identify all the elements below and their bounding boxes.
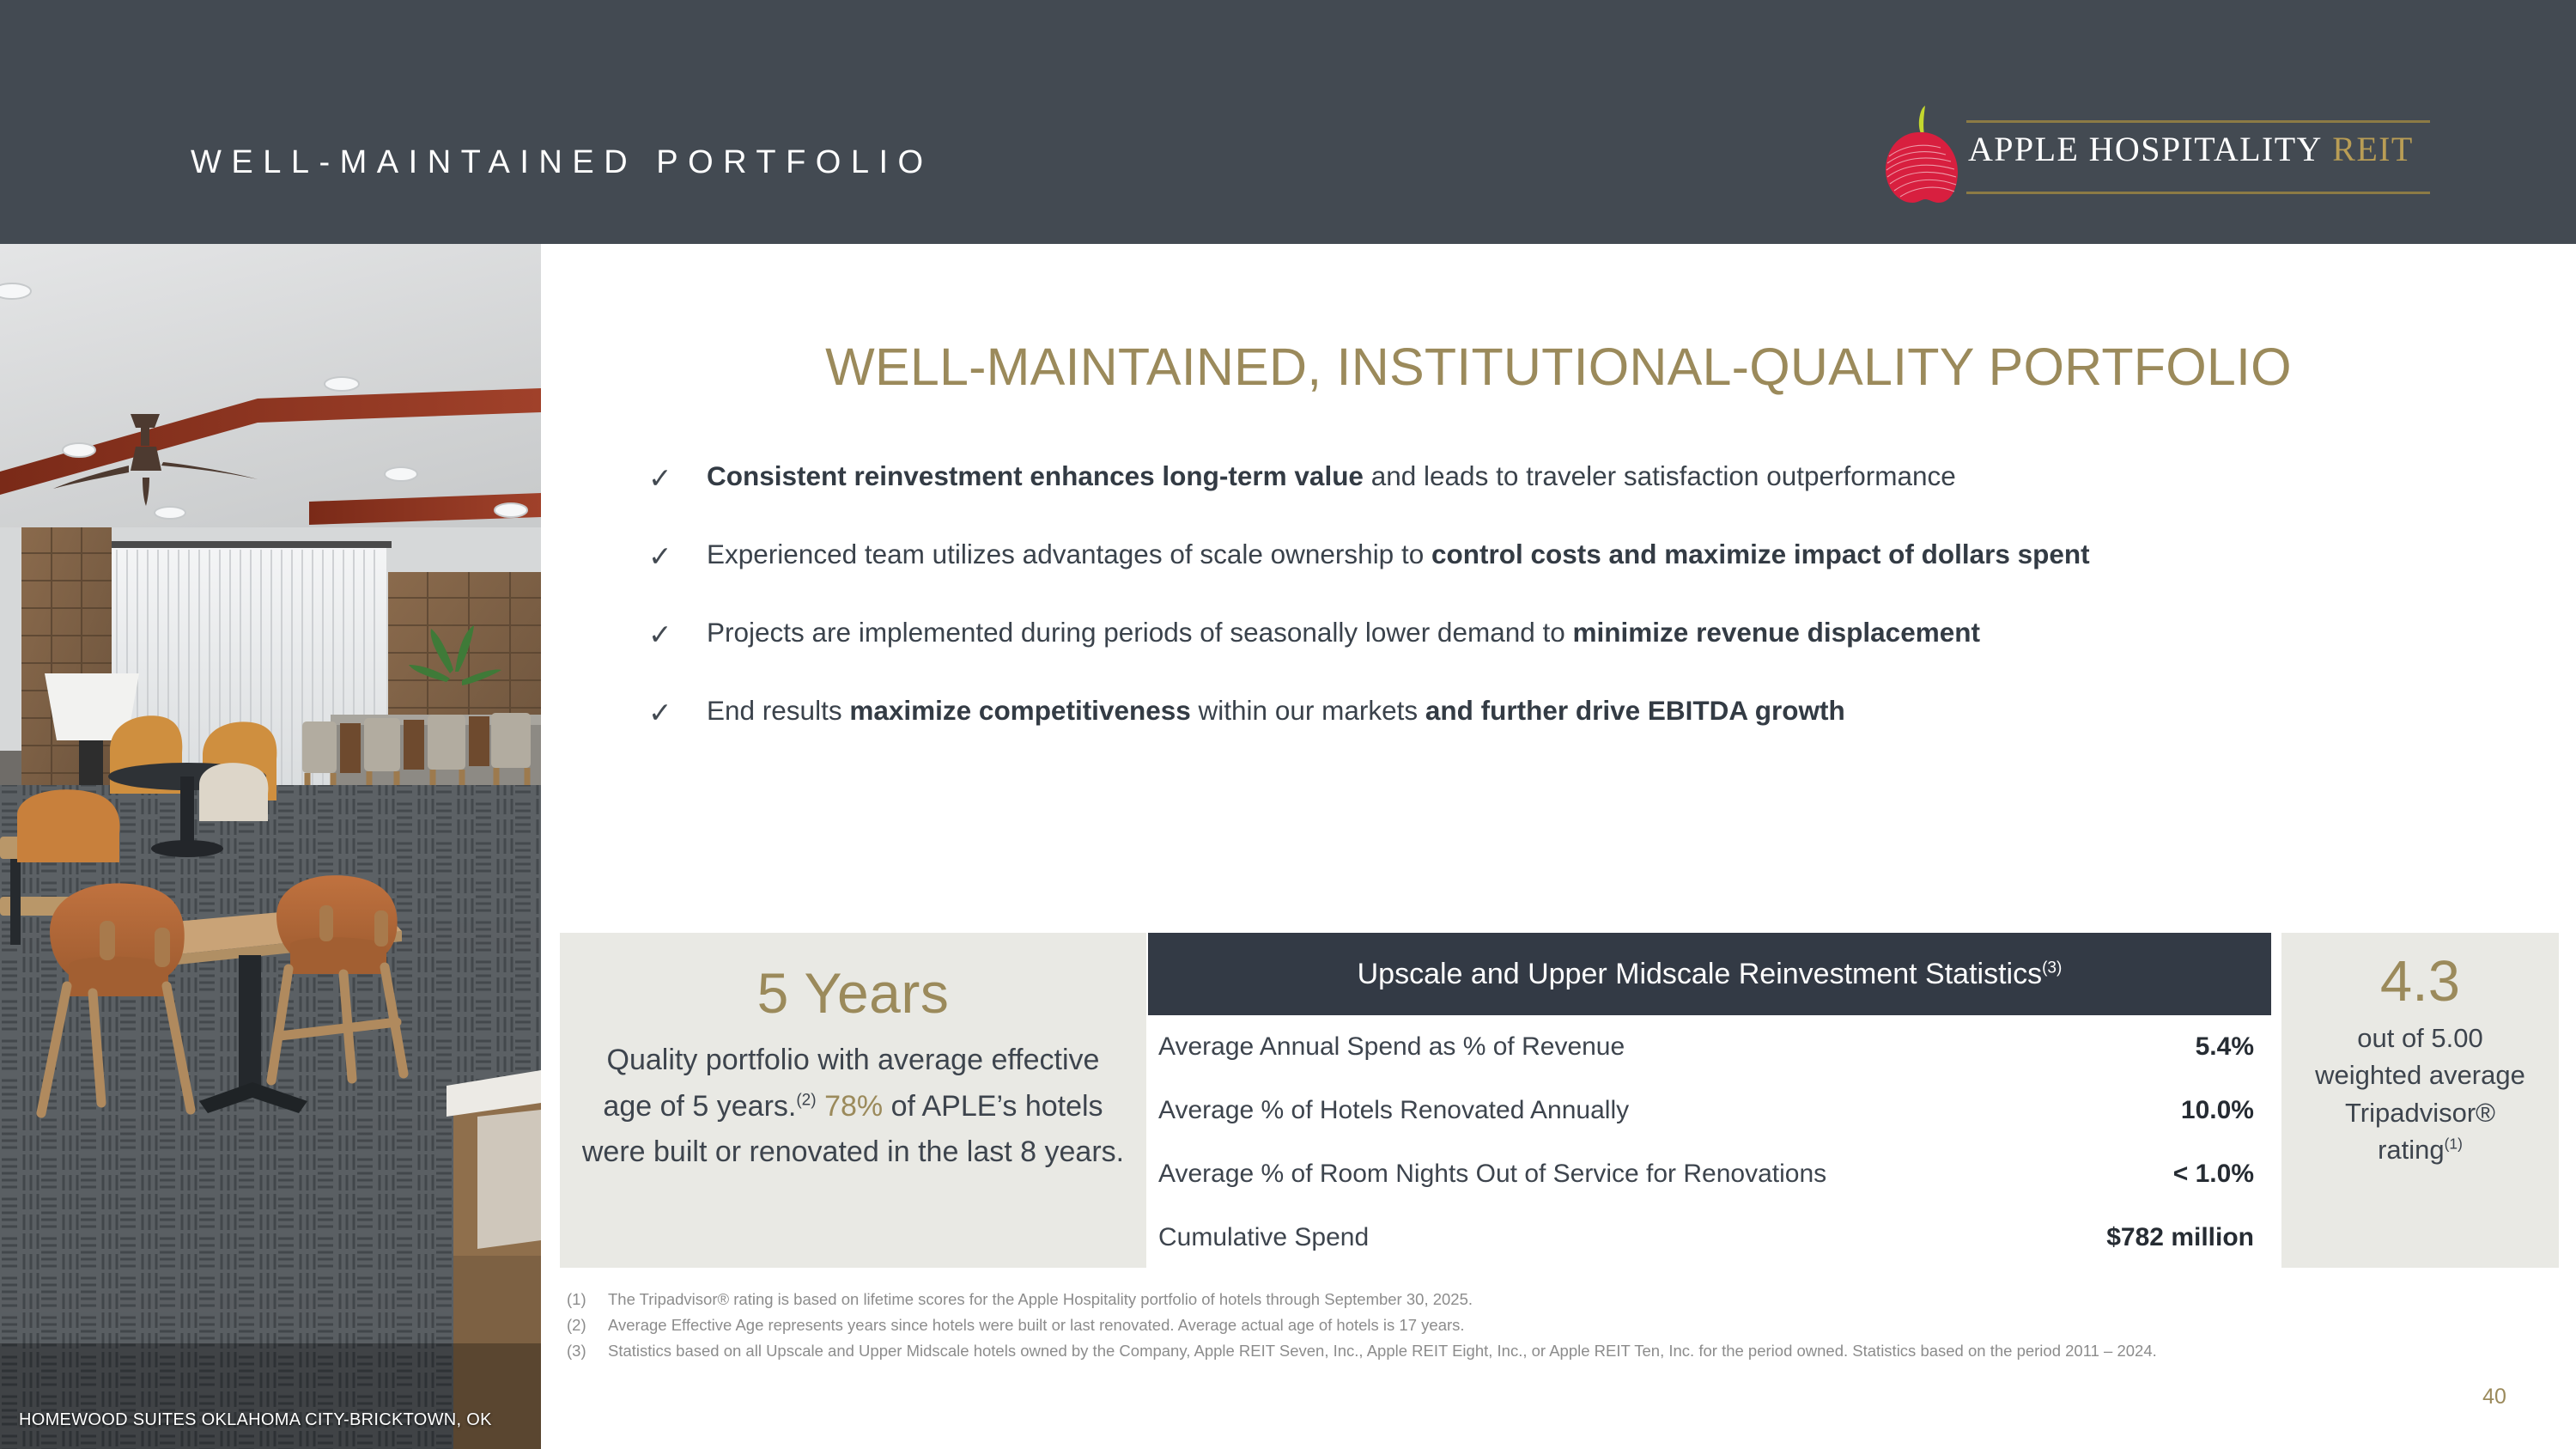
tripadvisor-rating-body: out of 5.00weighted averageTripadvisor®r… — [2281, 1020, 2559, 1169]
bullet-item: ✓ Experienced team utilizes advantages o… — [648, 538, 2494, 616]
table-row: Average Annual Spend as % of Revenue 5.4… — [1148, 1015, 2271, 1079]
hotel-photo: HOMEWOOD SUITES OKLAHOMA CITY-BRICKTOWN,… — [0, 244, 541, 1449]
footnote-text: Average Effective Age represents years s… — [608, 1312, 2456, 1338]
tripadvisor-rating-card: 4.3 out of 5.00weighted averageTripadvis… — [2281, 933, 2559, 1268]
bullet-text: End results maximize competitiveness wit… — [707, 694, 1845, 728]
rating-line-1: out of 5.00 — [2357, 1023, 2483, 1053]
apple-logo-icon — [1880, 103, 1958, 204]
table-title-text: Upscale and Upper Midscale Reinvestment … — [1358, 958, 2042, 990]
bullet-text: Consistent reinvestment enhances long-te… — [707, 460, 1956, 493]
rating-line-3: Tripadvisor® — [2345, 1098, 2495, 1128]
effective-age-body: Quality portfolio with average effective… — [560, 1038, 1146, 1176]
table-title: Upscale and Upper Midscale Reinvestment … — [1358, 958, 2063, 991]
rating-footnote-ref: (1) — [2445, 1135, 2463, 1153]
checkmark-icon: ✓ — [648, 542, 672, 570]
logo-rule-top — [1966, 120, 2430, 123]
checkmark-icon: ✓ — [648, 464, 672, 492]
footnote-item: (2) Average Effective Age represents yea… — [567, 1312, 2456, 1338]
footnote-text: Statistics based on all Upscale and Uppe… — [608, 1338, 2456, 1364]
table-row-value: $782 million — [2106, 1223, 2254, 1252]
checkmark-icon: ✓ — [648, 698, 672, 727]
page-number: 40 — [2464, 1385, 2524, 1409]
rating-line-2: weighted average — [2315, 1060, 2525, 1090]
company-logo: APPLE HOSPITALITY REIT — [1880, 101, 2430, 204]
bullet-text: Experienced team utilizes advantages of … — [707, 538, 2090, 571]
footnote-text: The Tripadvisor® rating is based on life… — [608, 1287, 2456, 1312]
table-row-value: < 1.0% — [2173, 1160, 2254, 1189]
table-title-footnote-ref: (3) — [2042, 959, 2062, 977]
bullet-item: ✓ Consistent reinvestment enhances long-… — [648, 460, 2494, 538]
footnote-number: (3) — [567, 1338, 608, 1364]
bullet-list: ✓ Consistent reinvestment enhances long-… — [648, 460, 2494, 772]
bullet-item: ✓ Projects are implemented during period… — [648, 616, 2494, 694]
checkmark-icon: ✓ — [648, 620, 672, 648]
footnote-number: (2) — [567, 1312, 608, 1338]
effective-age-footnote-ref: (2) — [796, 1091, 816, 1109]
table-row: Average % of Room Nights Out of Service … — [1148, 1142, 2271, 1206]
slide-root: WELL-MAINTAINED PORTFOLIO — [0, 0, 2576, 1449]
reinvestment-statistics-table: Upscale and Upper Midscale Reinvestment … — [1148, 933, 2271, 1268]
effective-age-headline: 5 Years — [560, 960, 1146, 1026]
built-renovated-percent: 78% — [824, 1090, 883, 1123]
bullet-text: Projects are implemented during periods … — [707, 616, 1980, 649]
header-bar: WELL-MAINTAINED PORTFOLIO — [0, 0, 2576, 244]
table-row: Cumulative Spend $782 million — [1148, 1206, 2271, 1269]
table-row: Average % of Hotels Renovated Annually 1… — [1148, 1079, 2271, 1142]
photo-caption: HOMEWOOD SUITES OKLAHOMA CITY-BRICKTOWN,… — [19, 1410, 492, 1430]
main-heading: WELL-MAINTAINED, INSTITUTIONAL-QUALITY P… — [558, 337, 2559, 397]
footnote-item: (1) The Tripadvisor® rating is based on … — [567, 1287, 2456, 1312]
table-row-label: Average Annual Spend as % of Revenue — [1158, 1032, 1625, 1062]
table-row-label: Average % of Room Nights Out of Service … — [1158, 1160, 1826, 1189]
effective-age-card: 5 Years Quality portfolio with average e… — [560, 933, 1146, 1268]
logo-wordmark: APPLE HOSPITALITY REIT — [1968, 129, 2414, 169]
footnote-item: (3) Statistics based on all Upscale and … — [567, 1338, 2456, 1364]
bullet-item: ✓ End results maximize competitiveness w… — [648, 694, 2494, 772]
footnotes: (1) The Tripadvisor® rating is based on … — [567, 1287, 2456, 1364]
table-row-value: 5.4% — [2196, 1032, 2254, 1062]
rating-line-4: rating — [2378, 1135, 2445, 1165]
table-row-label: Average % of Hotels Renovated Annually — [1158, 1096, 1629, 1125]
table-row-label: Cumulative Spend — [1158, 1223, 1369, 1252]
page-title: WELL-MAINTAINED PORTFOLIO — [191, 144, 933, 181]
logo-rules: APPLE HOSPITALITY REIT — [1966, 101, 2430, 204]
logo-rule-bottom — [1966, 192, 2430, 194]
table-row-value: 10.0% — [2181, 1096, 2254, 1125]
tripadvisor-rating-value: 4.3 — [2281, 948, 2559, 1014]
table-header: Upscale and Upper Midscale Reinvestment … — [1148, 933, 2271, 1015]
footnote-number: (1) — [567, 1287, 608, 1312]
logo-brand-suffix: REIT — [2332, 130, 2413, 168]
logo-brand-primary: APPLE HOSPITALITY — [1968, 130, 2323, 168]
